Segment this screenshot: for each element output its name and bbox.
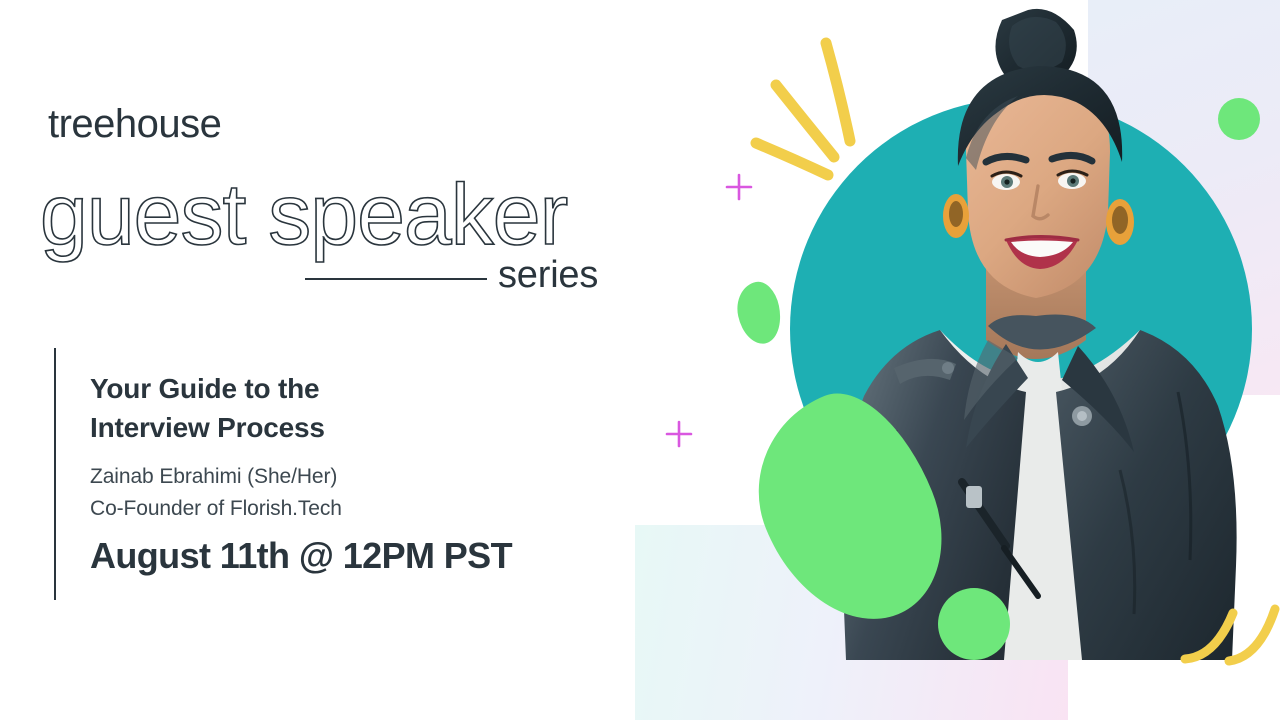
series-divider-rule [305, 278, 487, 280]
brand-wordmark: treehouse [48, 104, 221, 144]
magenta-plus-lower-icon [664, 419, 694, 449]
green-circle-bottom-icon [938, 588, 1010, 660]
svg-text:guest speaker: guest speaker [40, 167, 568, 263]
vertical-accent-rule [54, 348, 56, 600]
magenta-plus-upper-icon [724, 172, 754, 202]
session-title: Your Guide to the Interview Process [90, 370, 510, 447]
speaker-role: Co-Founder of Florish.Tech [90, 493, 550, 525]
session-title-line-1: Your Guide to the [90, 370, 510, 409]
speaker-info: Zainab Ebrahimi (She/Her) Co-Founder of … [90, 461, 550, 525]
text-column: treehouse guest speaker series Your Guid… [0, 0, 660, 720]
session-datetime: August 11th @ 12PM PST [90, 536, 512, 576]
promo-slide: treehouse guest speaker series Your Guid… [0, 0, 1280, 720]
speaker-name: Zainab Ebrahimi (She/Her) [90, 461, 550, 493]
green-blob-small-icon [732, 278, 786, 347]
session-title-line-2: Interview Process [90, 409, 510, 448]
series-label: series [498, 256, 598, 294]
